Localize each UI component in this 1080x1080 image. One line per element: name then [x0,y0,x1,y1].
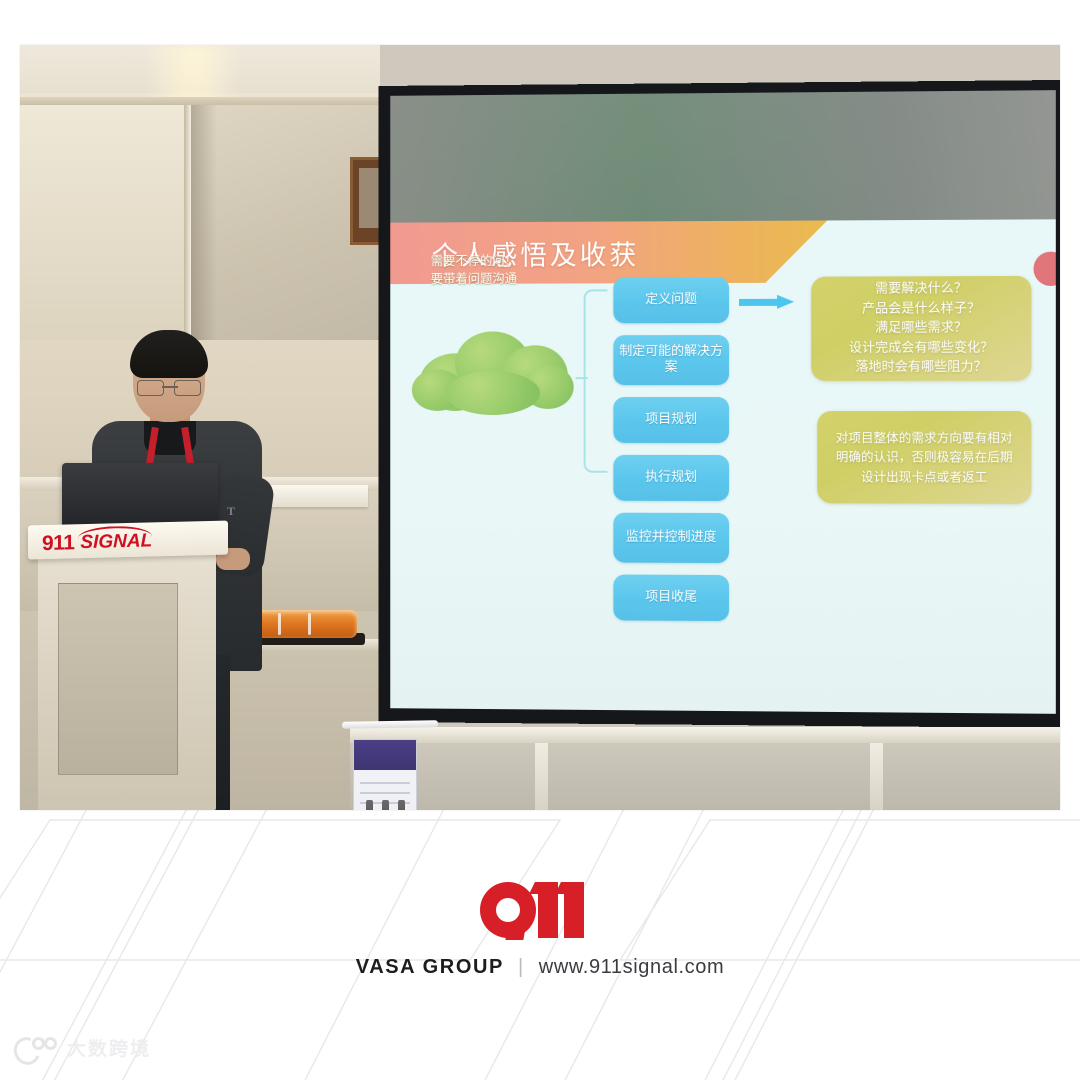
brand-separator: | [518,956,525,979]
callout-1-line-5: 落地时会有哪些阻力？ [849,358,993,378]
process-box-5: 监控并控制进度 [613,513,729,563]
cabinet-edge [184,105,191,340]
amber-lightbar [251,610,357,638]
bracket-connector [584,289,608,472]
cabinet-door-right [64,105,187,340]
callout-1-line-3: 满足哪些需求？ [849,319,993,339]
podium-brand-number: 911 [42,531,74,556]
callout-1-line-1: 需要解决什么？ [849,279,993,299]
bracket-stem [576,377,588,379]
911-logo-icon [480,880,600,940]
company-name: VASA GROUP [356,956,504,979]
process-box-3: 项目规划 [613,397,729,443]
alcove-shadow [191,105,217,340]
cabinet-top-rail [20,97,380,105]
room-lower-shelving [350,743,1060,810]
glasses-icon [137,380,201,394]
callout-2-line-1: 对项目整体的需求方向要有相对 [836,428,1013,448]
cloud-line-1: 需要不停的问！ [404,252,544,271]
cloud-text: 需要不停的问！ 要带着问题沟通 [404,252,544,289]
brand-line: VASA GROUP | www.911signal.com [0,956,1080,979]
callout-1-line-2: 产品会是什么样子？ [849,299,993,319]
footer-branding: VASA GROUP | www.911signal.com [0,880,1080,979]
podium-brand-word: SIGNAL [80,530,152,554]
process-box-column: 定义问题 制定可能的解决方案 项目规划 执行规划 监控并控制进度 项目收尾 [613,277,729,633]
callout-box-2: 对项目整体的需求方向要有相对 明确的认识，否则极容易在后期 设计出现卡点或者返工 [817,411,1031,504]
process-box-6: 项目收尾 [613,574,729,621]
product-display-box [353,739,417,810]
lightbar-glint [278,613,281,635]
callout-2-line-2: 明确的认识，否则极容易在后期 [836,447,1013,467]
podium-brand-logo: 911 SIGNAL [42,527,212,557]
cloud-line-2: 要带着问题沟通 [404,270,544,288]
watermark-logo-icon [14,1036,58,1060]
slide-content: 个人感悟及收获 需要不停的问！ 要带着问题沟通 定义问题 制定可能的解决方案 [390,219,1056,714]
cabinet-door-left [20,105,65,340]
website-url[interactable]: www.911signal.com [539,956,724,979]
watermark: 大数跨境 [14,1034,151,1061]
presentation-photo: T 911 SIGNAL 个人感悟及收获 [20,45,1060,810]
screen-bottom-rail [350,727,1060,743]
process-box-1: 定义问题 [613,277,729,323]
projection-top-band [390,90,1056,226]
watermark-text: 大数跨境 [67,1034,151,1061]
lightbar-glint [308,613,311,635]
projection-screen-surface: 个人感悟及收获 需要不停的问！ 要带着问题沟通 定义问题 制定可能的解决方案 [390,90,1056,714]
callout-1-line-4: 设计完成会有哪些变化？ [849,338,993,358]
question-cloud [412,325,578,417]
callout-box-1: 需要解决什么？ 产品会是什么样子？ 满足哪些需求？ 设计完成会有哪些变化？ 落地… [811,276,1031,381]
podium-front-panel [58,583,178,775]
callout-2-line-3: 设计出现卡点或者返工 [836,467,1013,487]
process-box-4: 执行规划 [613,455,729,501]
right-arrow-icon [739,295,795,309]
process-box-2: 制定可能的解决方案 [613,335,729,385]
projection-screen-frame: 个人感悟及收获 需要不停的问！ 要带着问题沟通 定义问题 制定可能的解决方案 [378,80,1060,728]
shirt-logo: T [227,504,239,516]
